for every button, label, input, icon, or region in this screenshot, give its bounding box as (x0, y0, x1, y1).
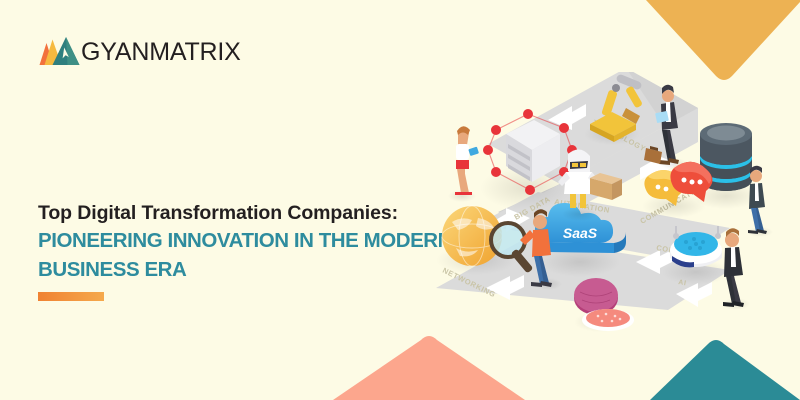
headline-line-3: BUSINESS ERA (38, 255, 468, 284)
headline-line-2: PIONEERING INNOVATION IN THE MODERN (38, 226, 468, 255)
brand-logo[interactable]: GYANMATRIX (38, 36, 241, 66)
top-right-triangle-decoration (640, 0, 800, 82)
headline-line-1: Top Digital Transformation Companies: (38, 200, 468, 226)
headline-block: Top Digital Transformation Companies: PI… (38, 200, 468, 285)
bottom-right-triangle-decoration (632, 328, 800, 400)
person-businessman-right (747, 166, 773, 237)
person-woman-tablet (448, 126, 479, 202)
banner-root: GYANMATRIX Top Digital Transformation Co… (0, 0, 800, 400)
mountain-peaks-icon (38, 36, 80, 66)
isometric-digital-transformation-illustration: TECHNOLOGY BIG DATA AUTOMATION COMMERCE … (430, 72, 800, 332)
bottom-center-triangle-decoration (333, 328, 583, 400)
saas-cloud-label: SaaS (563, 225, 598, 241)
person-man-standing (722, 228, 750, 310)
headline-accent-bar (38, 292, 104, 301)
brand-wordmark: GYANMATRIX (81, 40, 241, 65)
